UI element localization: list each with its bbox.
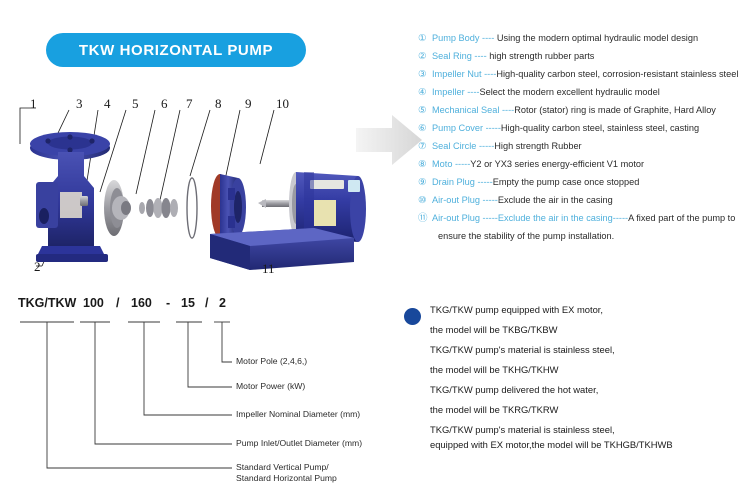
feature-description-continued: ensure the stability of the pump install… xyxy=(438,231,754,241)
exploded-pump-diagram: 1 3 4 5 6 7 8 9 10 2 11 xyxy=(14,96,374,286)
list-item-text: Seal Circle -----High strength Rubber xyxy=(432,141,754,152)
label-impeller-diameter: Impeller Nominal Diameter (mm) xyxy=(236,409,360,419)
product-spec-sheet: TKW HORIZONTAL PUMP xyxy=(0,0,756,500)
callout-number-2: 2 xyxy=(34,259,41,275)
pump-cover-part xyxy=(211,174,246,238)
arrow-right-icon xyxy=(356,112,422,168)
list-item: ④ Impeller ----Select the modern excelle… xyxy=(418,87,754,99)
feature-description: High-quality carbon steel, stainless ste… xyxy=(501,123,699,133)
list-item: ③ Impeller Nut ----High-quality carbon s… xyxy=(418,69,754,81)
callout-number-5: 5 xyxy=(132,96,139,112)
callout-number-4: 4 xyxy=(104,96,111,112)
ex-note-line: TKG/TKW pump delivered the hot water, xyxy=(430,384,754,395)
callout-number-7: 7 xyxy=(186,96,193,112)
list-item-text: Impeller ----Select the modern excellent… xyxy=(432,87,754,98)
label-inlet-outlet-diameter: Pump Inlet/Outlet Diameter (mm) xyxy=(236,438,362,448)
list-marker-3: ③ xyxy=(418,69,432,81)
feature-label: Seal Ring ---- xyxy=(432,51,489,61)
feature-description: Empty the pump case once stopped xyxy=(493,177,640,187)
ex-note-line: TKG/TKW pump's material is stainless ste… xyxy=(430,344,754,355)
callout-number-9: 9 xyxy=(245,96,252,112)
ex-note-line: the model will be TKRG/TKRW xyxy=(430,404,754,415)
feature-description: high strength rubber parts xyxy=(489,51,594,61)
callout-number-6: 6 xyxy=(161,96,168,112)
pump-body-part xyxy=(30,132,110,262)
model-code-breakdown: TKG/TKW 100 / 160 - 15 / 2 xyxy=(18,296,388,492)
list-item: ⑤ Mechanical Seal ----Rotor (stator) rin… xyxy=(418,105,754,117)
list-marker-8: ⑧ xyxy=(418,159,432,171)
callout-number-8: 8 xyxy=(215,96,222,112)
feature-description: Y2 or YX3 series energy-efficient V1 mot… xyxy=(470,159,644,169)
list-marker-9: ⑨ xyxy=(418,177,432,189)
seal-circle-part xyxy=(187,178,197,238)
feature-label: Moto ----- xyxy=(432,159,470,169)
feature-description: Using the modern optimal hydraulic model… xyxy=(497,33,698,43)
page-title-banner: TKW HORIZONTAL PUMP xyxy=(46,33,306,67)
feature-label: Seal Circle ----- xyxy=(432,141,494,151)
feature-description: A fixed part of the pump to xyxy=(628,213,735,223)
callout-number-3: 3 xyxy=(76,96,83,112)
component-feature-list: ① Pump Body ---- Using the modern optima… xyxy=(418,33,754,241)
list-marker-7: ⑦ xyxy=(418,141,432,153)
list-item-text: Air-out Plug -----Exclude the air in the… xyxy=(432,213,754,224)
impeller-part xyxy=(104,180,131,236)
list-item-text: Impeller Nut ----High-quality carbon ste… xyxy=(432,69,754,80)
feature-description: Rotor (stator) ring is made of Graphite,… xyxy=(514,105,716,115)
list-marker-1: ① xyxy=(418,33,432,45)
list-marker-6: ⑥ xyxy=(418,123,432,135)
list-item-text: Air-out Plug -----Exclude the air in the… xyxy=(432,195,754,206)
feature-label: Pump Cover ----- xyxy=(432,123,501,133)
list-item: ⑨ Drain Plug -----Empty the pump case on… xyxy=(418,177,754,189)
list-item: ② Seal Ring ---- high strength rubber pa… xyxy=(418,51,754,63)
feature-description: High-quality carbon steel, corrosion-res… xyxy=(496,69,738,79)
list-item: ⑧ Moto -----Y2 or YX3 series energy-effi… xyxy=(418,159,754,171)
feature-label: Pump Body ---- xyxy=(432,33,497,43)
list-marker-11: ⑪ xyxy=(418,213,432,225)
label-pump-type-line-2: Standard Horizontal Pump xyxy=(236,473,337,483)
page-title: TKW HORIZONTAL PUMP xyxy=(79,42,273,59)
base-plate-part xyxy=(210,228,354,270)
model-breakdown-leader-lines xyxy=(18,296,388,492)
exploded-pump-illustration xyxy=(14,96,374,286)
list-item: ① Pump Body ---- Using the modern optima… xyxy=(418,33,754,45)
ex-note-line: TKG/TKW pump's material is stainless ste… xyxy=(430,424,754,435)
list-marker-10: ⑩ xyxy=(418,195,432,207)
ex-note-line: TKG/TKW pump equipped with EX motor, xyxy=(430,304,754,315)
feature-label: Mechanical Seal ---- xyxy=(432,105,514,115)
feature-label: Impeller ---- xyxy=(432,87,479,97)
callout-number-10: 10 xyxy=(276,96,289,112)
list-item: ⑪ Air-out Plug -----Exclude the air in t… xyxy=(418,213,754,225)
list-item-text: Seal Ring ---- high strength rubber part… xyxy=(432,51,754,62)
callout-number-11: 11 xyxy=(262,261,275,277)
ex-motor-notes: TKG/TKW pump equipped with EX motor, the… xyxy=(404,304,754,459)
feature-description: Exclude the air in the casing xyxy=(498,195,613,205)
feature-description: High strength Rubber xyxy=(494,141,581,151)
feature-description: Select the modern excellent hydraulic mo… xyxy=(479,87,659,97)
label-motor-power: Motor Power (kW) xyxy=(236,381,305,391)
ex-note-line: the model will be TKHG/TKHW xyxy=(430,364,754,375)
callout-number-1: 1 xyxy=(30,96,37,112)
bullet-point-icon xyxy=(404,308,421,325)
list-item-text: Drain Plug -----Empty the pump case once… xyxy=(432,177,754,188)
ex-note-line: the model will be TKBG/TKBW xyxy=(430,324,754,335)
list-item-text: Pump Body ---- Using the modern optimal … xyxy=(432,33,754,44)
mechanical-seal-part xyxy=(139,198,178,218)
list-item-text: Mechanical Seal ----Rotor (stator) ring … xyxy=(432,105,754,116)
ex-note-line: equipped with EX motor,the model will be… xyxy=(430,439,754,450)
impeller-nut-part xyxy=(80,196,88,206)
list-item: ⑩ Air-out Plug -----Exclude the air in t… xyxy=(418,195,754,207)
label-pump-type-line-1: Standard Vertical Pump/ xyxy=(236,462,329,472)
flow-arrow xyxy=(356,112,422,168)
feature-label: Air-out Plug -----Exclude the air in the… xyxy=(432,213,628,223)
feature-label: Air-out Plug ----- xyxy=(432,195,498,205)
list-item: ⑦ Seal Circle -----High strength Rubber xyxy=(418,141,754,153)
list-marker-2: ② xyxy=(418,51,432,63)
list-marker-5: ⑤ xyxy=(418,105,432,117)
list-item-text: Pump Cover -----High-quality carbon stee… xyxy=(432,123,754,134)
feature-label: Drain Plug ----- xyxy=(432,177,493,187)
list-item: ⑥ Pump Cover -----High-quality carbon st… xyxy=(418,123,754,135)
list-marker-4: ④ xyxy=(418,87,432,99)
list-item-text: Moto -----Y2 or YX3 series energy-effici… xyxy=(432,159,754,170)
label-motor-pole: Motor Pole (2,4,6,) xyxy=(236,356,307,366)
feature-label: Impeller Nut ---- xyxy=(432,69,496,79)
